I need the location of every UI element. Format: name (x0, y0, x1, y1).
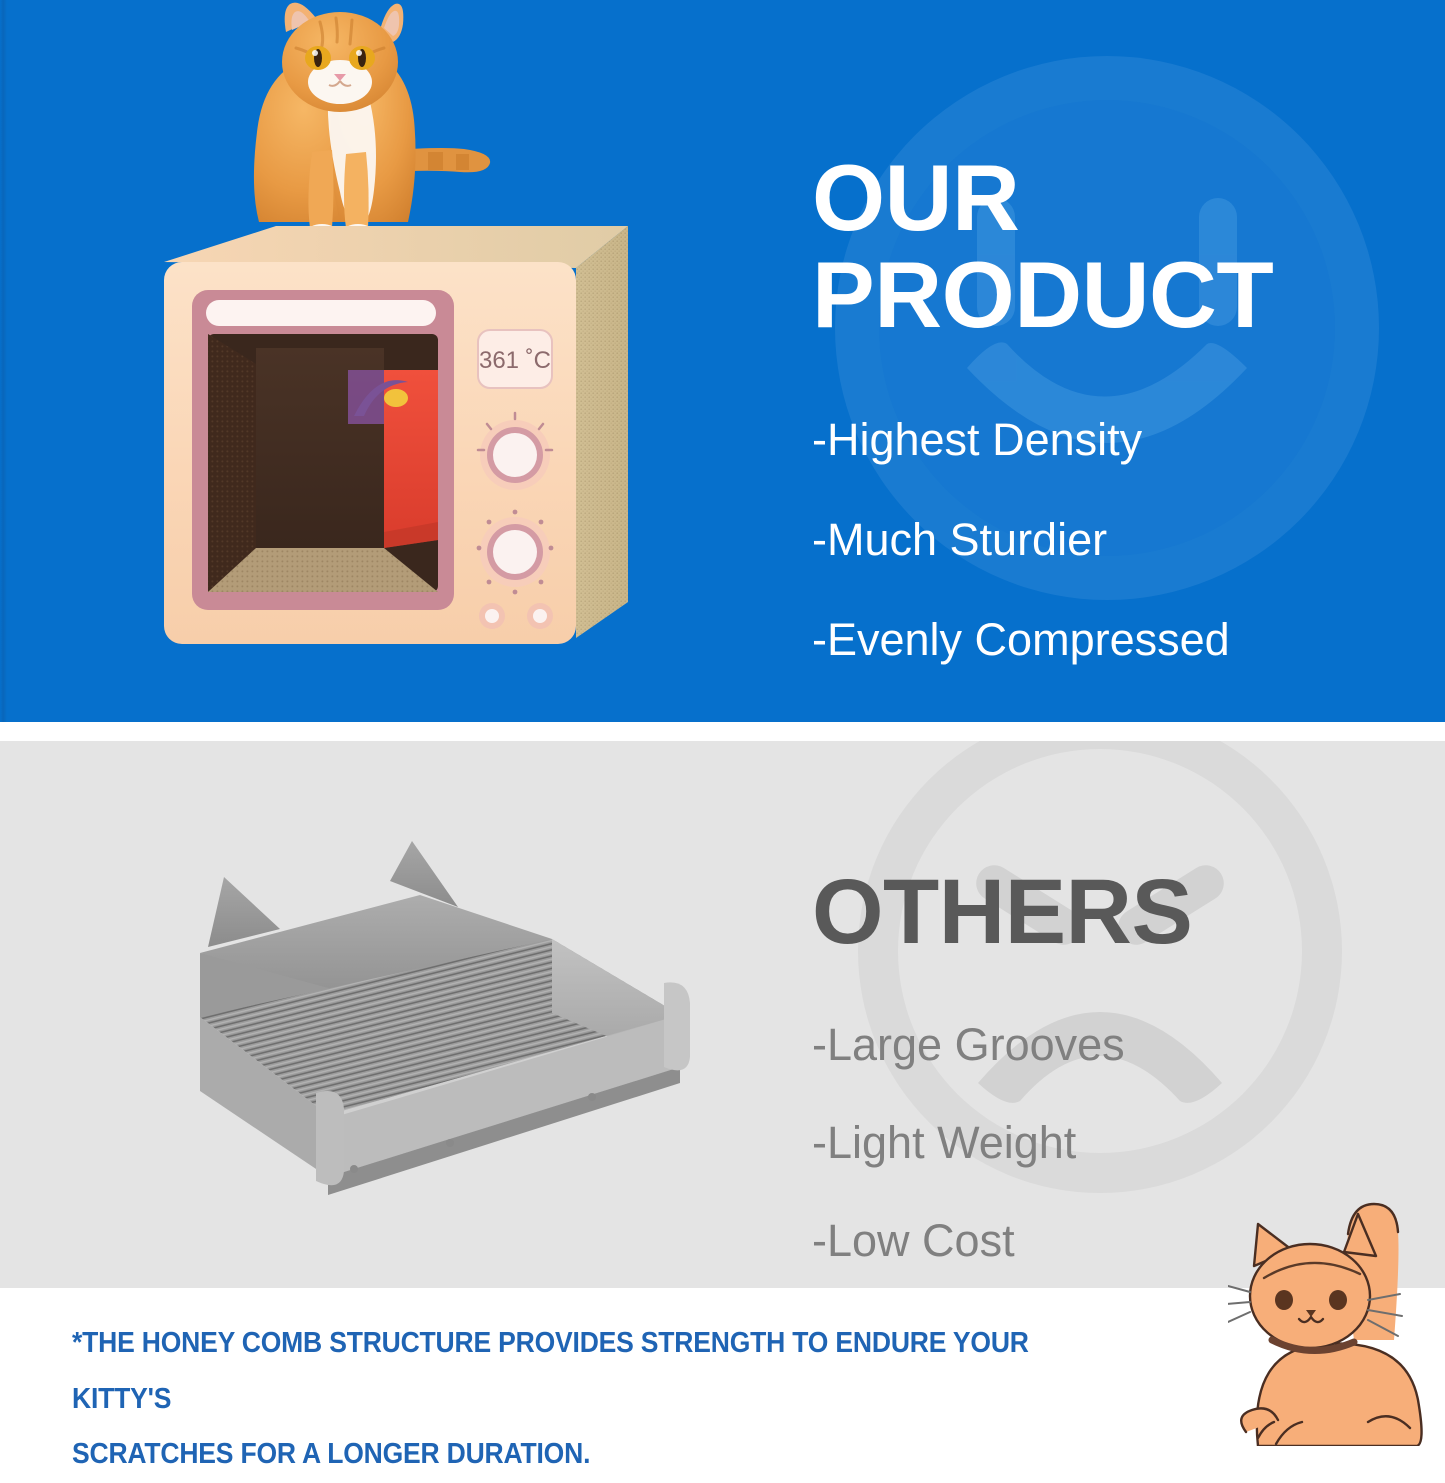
list-item: -Evenly Compressed (812, 617, 1412, 662)
microwave-display-value: 361 ˚C (479, 347, 551, 374)
orange-tabby-cat (254, 3, 490, 240)
heading-line-2: PRODUCT (812, 247, 1412, 344)
list-item: -Light Weight (812, 1120, 1412, 1165)
disclaimer-line-2: SCRATCHES FOR A LONGER DURATION. (72, 1427, 1114, 1483)
honeycomb-disclaimer: *THE HONEY COMB STRUCTURE PROVIDES STREN… (72, 1316, 1114, 1483)
gray-lounger-scratcher-photo (140, 841, 740, 1261)
heading-line-1: OUR (812, 150, 1412, 247)
microwave-cat-scratcher-photo: 361 ˚C (96, 0, 676, 700)
our-product-heading: OUR PRODUCT (812, 150, 1412, 344)
disclaimer-line-1: *THE HONEY COMB STRUCTURE PROVIDES STREN… (72, 1316, 1114, 1427)
list-item: -Much Sturdier (812, 517, 1412, 562)
our-product-copy: OUR PRODUCT -Highest Density -Much Sturd… (812, 150, 1412, 662)
list-item: -Large Grooves (812, 1022, 1412, 1067)
our-product-panel: 361 ˚C OUR (0, 0, 1445, 722)
footer-note-bar: *THE HONEY COMB STRUCTURE PROVIDES STREN… (0, 1288, 1445, 1445)
our-product-feature-list: -Highest Density -Much Sturdier -Evenly … (812, 417, 1412, 662)
cartoon-cat-mascot (1228, 1188, 1445, 1446)
microwave-knob-lower (477, 510, 554, 595)
panel-edge-seam (0, 0, 7, 722)
list-item: -Highest Density (812, 417, 1412, 462)
others-heading: OTHERS (812, 865, 1412, 960)
